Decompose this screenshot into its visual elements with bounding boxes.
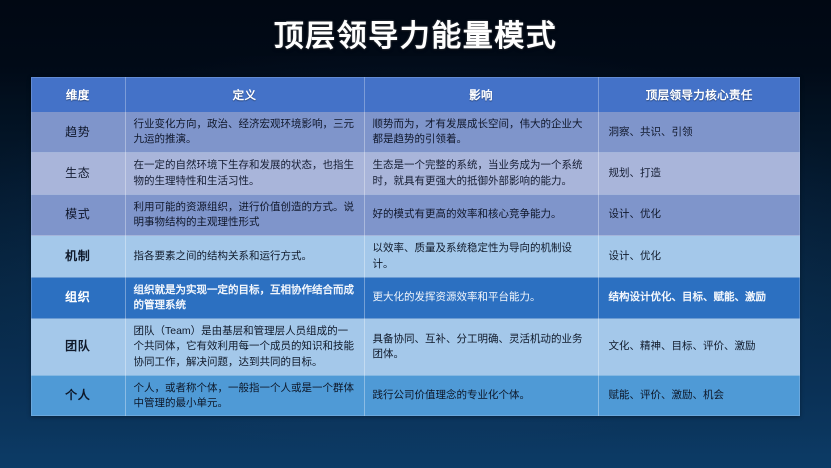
table-row: 机制指各要素之间的结构关系和运行方式。以效率、质量及系统稳定性为导向的机制设计。… xyxy=(31,236,800,277)
cell-dimension: 生态 xyxy=(31,153,125,194)
cell-definition: 利用可能的资源组织，进行价值创造的方式。说明事物结构的主观理性形式 xyxy=(125,194,364,235)
cell-dimension: 机制 xyxy=(31,236,125,277)
table-row: 模式利用可能的资源组织，进行价值创造的方式。说明事物结构的主观理性形式好的模式有… xyxy=(31,194,800,235)
page-title: 顶层领导力能量模式 xyxy=(274,22,558,52)
title-bar: 顶层领导力能量模式 xyxy=(0,0,831,74)
table-body: 趋势行业变化方向，政治、经济宏观环境影响，三元九运的推演。顺势而为，才有发展成长… xyxy=(31,112,800,416)
column-header-dimension: 维度 xyxy=(31,77,125,112)
leadership-matrix-table: 维度 定义 影响 顶层领导力核心责任 趋势行业变化方向，政治、经济宏观环境影响，… xyxy=(31,77,800,416)
column-header-impact: 影响 xyxy=(364,77,598,112)
leadership-matrix-table-wrapper: 维度 定义 影响 顶层领导力核心责任 趋势行业变化方向，政治、经济宏观环境影响，… xyxy=(31,77,800,416)
table-header-row: 维度 定义 影响 顶层领导力核心责任 xyxy=(31,77,800,112)
cell-dimension: 组织 xyxy=(31,277,125,318)
cell-impact: 生态是一个完整的系统，当业务成为一个系统时，就具有更强大的抵御外部影响的能力。 xyxy=(364,153,598,194)
cell-definition: 组织就是为实现一定的目标，互相协作结合而成的管理系统 xyxy=(125,277,364,318)
cell-dimension: 团队 xyxy=(31,319,125,376)
cell-responsibility: 设计、优化 xyxy=(598,194,800,235)
cell-dimension: 个人 xyxy=(31,375,125,416)
cell-impact: 更大化的发挥资源效率和平台能力。 xyxy=(364,277,598,318)
cell-responsibility: 结构设计优化、目标、赋能、激励 xyxy=(598,277,800,318)
cell-definition: 指各要素之间的结构关系和运行方式。 xyxy=(125,236,364,277)
cell-impact: 好的模式有更高的效率和核心竞争能力。 xyxy=(364,194,598,235)
column-header-definition: 定义 xyxy=(125,77,364,112)
cell-definition: 团队（Team）是由基层和管理层人员组成的一个共同体，它有效利用每一个成员的知识… xyxy=(125,319,364,376)
cell-impact: 具备协同、互补、分工明确、灵活机动的业务团体。 xyxy=(364,319,598,376)
cell-definition: 个人，或者称个体，一般指一个人或是一个群体中管理的最小单元。 xyxy=(125,375,364,416)
table-row: 趋势行业变化方向，政治、经济宏观环境影响，三元九运的推演。顺势而为，才有发展成长… xyxy=(31,112,800,153)
slide-canvas: 顶层领导力能量模式 维度 定义 影响 顶层领导力核心责任 趋势行业变化方向，政治… xyxy=(0,0,831,468)
cell-dimension: 趋势 xyxy=(31,112,125,153)
table-row: 团队团队（Team）是由基层和管理层人员组成的一个共同体，它有效利用每一个成员的… xyxy=(31,319,800,376)
table-row: 生态在一定的自然环境下生存和发展的状态，也指生物的生理特性和生活习性。生态是一个… xyxy=(31,153,800,194)
cell-impact: 以效率、质量及系统稳定性为导向的机制设计。 xyxy=(364,236,598,277)
table-row: 组织组织就是为实现一定的目标，互相协作结合而成的管理系统更大化的发挥资源效率和平… xyxy=(31,277,800,318)
cell-dimension: 模式 xyxy=(31,194,125,235)
cell-responsibility: 赋能、评价、激励、机会 xyxy=(598,375,800,416)
cell-responsibility: 文化、精神、目标、评价、激励 xyxy=(598,319,800,376)
bottom-gradient-strip xyxy=(0,430,831,468)
cell-definition: 在一定的自然环境下生存和发展的状态，也指生物的生理特性和生活习性。 xyxy=(125,153,364,194)
cell-impact: 顺势而为，才有发展成长空间，伟大的企业大都是趋势的引领着。 xyxy=(364,112,598,153)
table-header: 维度 定义 影响 顶层领导力核心责任 xyxy=(31,77,800,112)
cell-definition: 行业变化方向，政治、经济宏观环境影响，三元九运的推演。 xyxy=(125,112,364,153)
cell-responsibility: 洞察、共识、引领 xyxy=(598,112,800,153)
table-row: 个人个人，或者称个体，一般指一个人或是一个群体中管理的最小单元。践行公司价值理念… xyxy=(31,375,800,416)
column-header-responsibility: 顶层领导力核心责任 xyxy=(598,77,800,112)
cell-responsibility: 设计、优化 xyxy=(598,236,800,277)
cell-responsibility: 规划、打造 xyxy=(598,153,800,194)
cell-impact: 践行公司价值理念的专业化个体。 xyxy=(364,375,598,416)
